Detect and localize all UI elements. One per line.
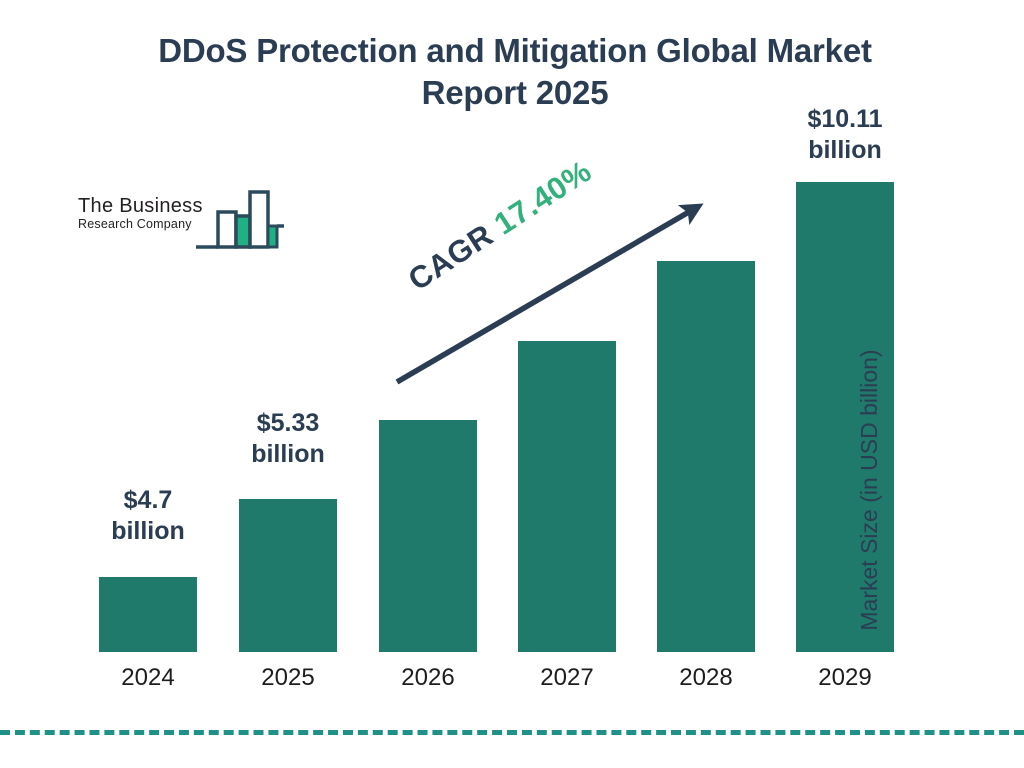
chart-page: DDoS Protection and Mitigation Global Ma… (0, 0, 1024, 768)
bar-chart-plot-area: $4.7 billion $5.33 billion $10.11 billio… (0, 0, 1024, 768)
bottom-divider (0, 730, 1024, 735)
y-axis-title: Market Size (in USD billion) (856, 330, 883, 650)
